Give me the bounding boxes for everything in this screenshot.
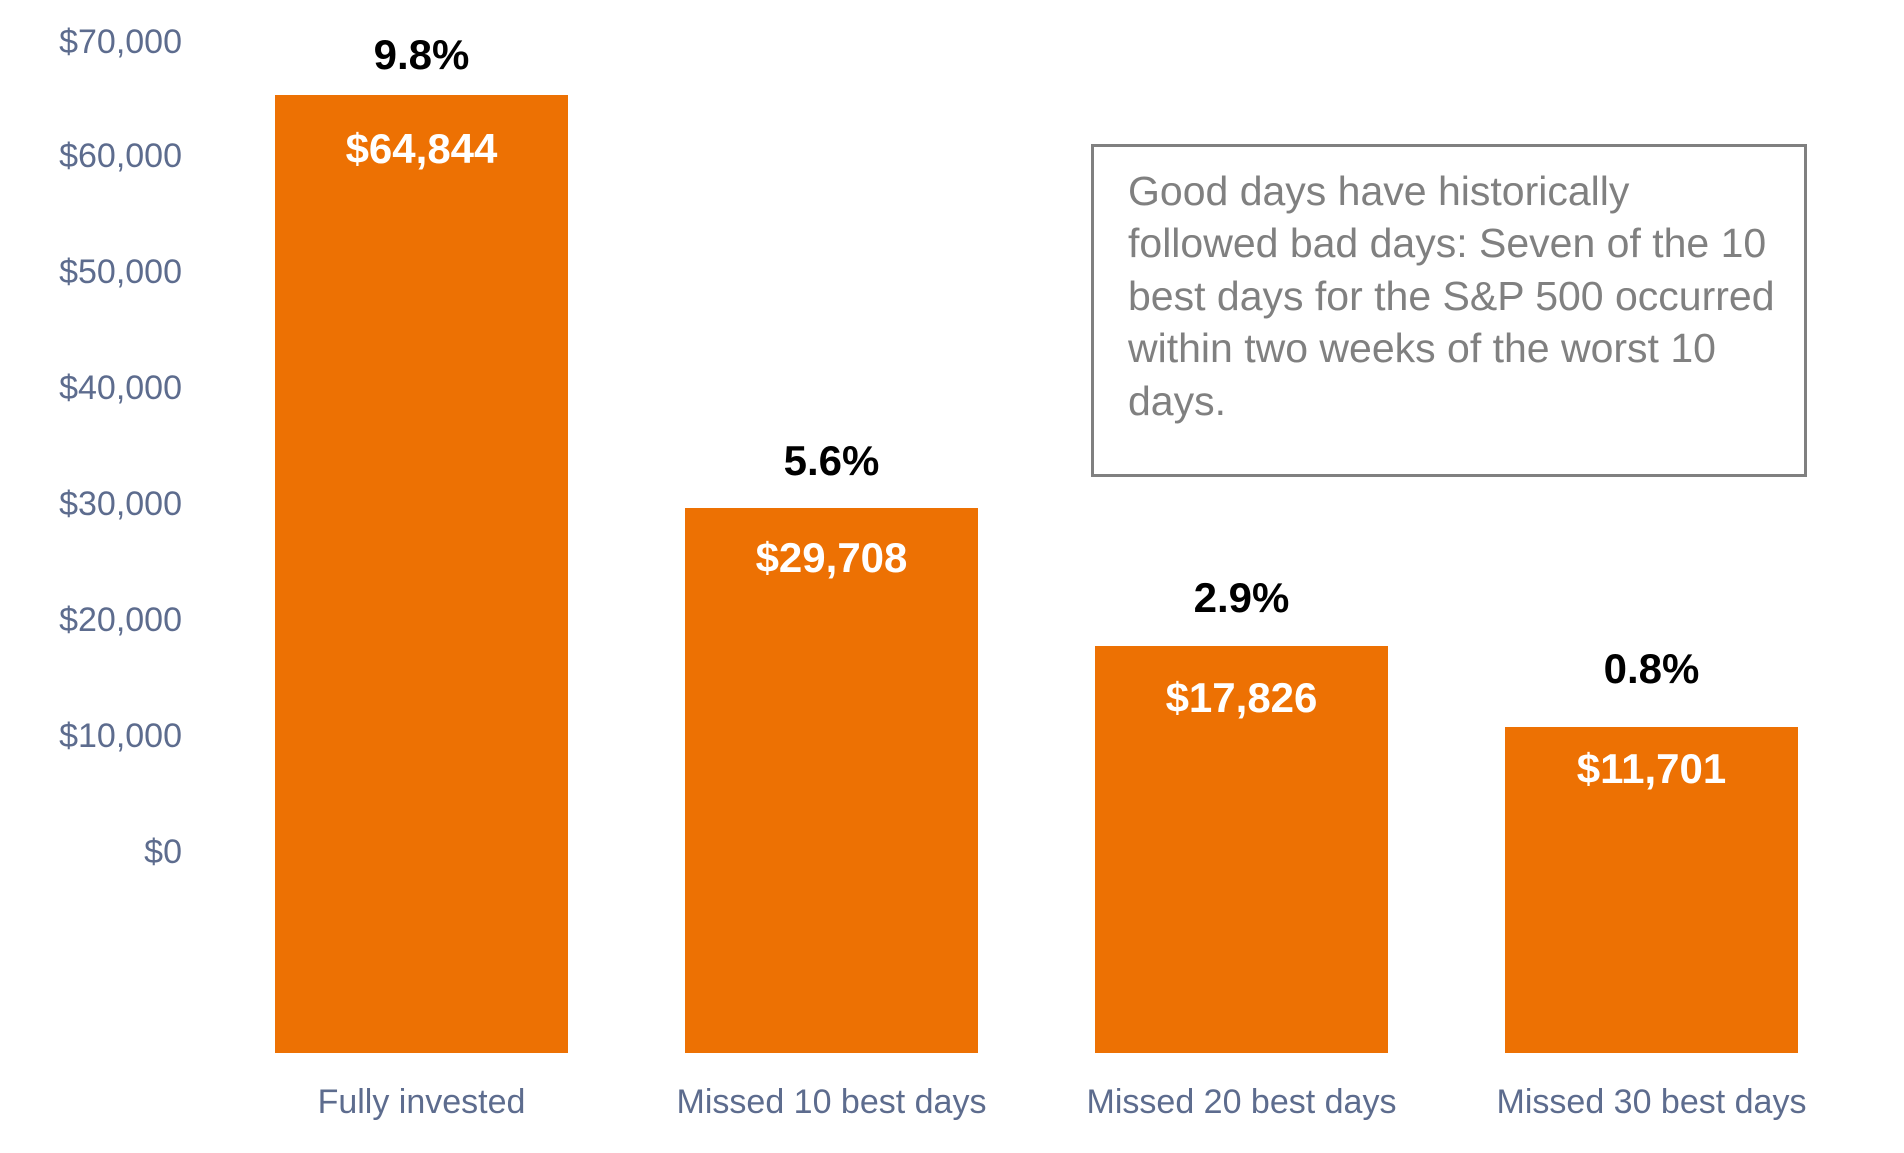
x-category-label: Fully invested: [235, 1085, 608, 1119]
annotation-callout-box: Good days have historically followed bad…: [1091, 144, 1807, 477]
x-category-label: Missed 30 best days: [1465, 1085, 1838, 1119]
bar-pct-label: 5.6%: [685, 440, 978, 482]
y-tick-label: $40,000: [2, 371, 182, 405]
bar-value-label: $17,826: [1095, 677, 1388, 719]
bar-pct-label: 0.8%: [1505, 648, 1798, 690]
x-category-label: Missed 10 best days: [645, 1085, 1018, 1119]
bar-value-label: $29,708: [685, 537, 978, 579]
bar-group-fully-invested: 9.8% $64,844 Fully invested: [275, 0, 568, 1153]
y-axis: $70,000 $60,000 $50,000 $40,000 $30,000 …: [0, 0, 190, 1153]
bar-value-label: $64,844: [275, 128, 568, 170]
y-tick-label: $60,000: [2, 139, 182, 173]
bar-rect[interactable]: [275, 95, 568, 1053]
annotation-text: Good days have historically followed bad…: [1128, 165, 1786, 427]
bar-pct-label: 9.8%: [275, 34, 568, 76]
y-tick-label: $20,000: [2, 603, 182, 637]
y-tick-label: $10,000: [2, 719, 182, 753]
bar-pct-label: 2.9%: [1095, 577, 1388, 619]
bar-chart: $70,000 $60,000 $50,000 $40,000 $30,000 …: [0, 0, 1904, 1153]
y-tick-label: $70,000: [2, 25, 182, 59]
bar-value-label: $11,701: [1505, 748, 1798, 790]
bar-rect[interactable]: [685, 508, 978, 1053]
y-tick-label: $50,000: [2, 255, 182, 289]
x-category-label: Missed 20 best days: [1055, 1085, 1428, 1119]
y-tick-label: $0: [2, 835, 182, 869]
y-tick-label: $30,000: [2, 487, 182, 521]
bar-group-missed-10: 5.6% $29,708 Missed 10 best days: [685, 0, 978, 1153]
